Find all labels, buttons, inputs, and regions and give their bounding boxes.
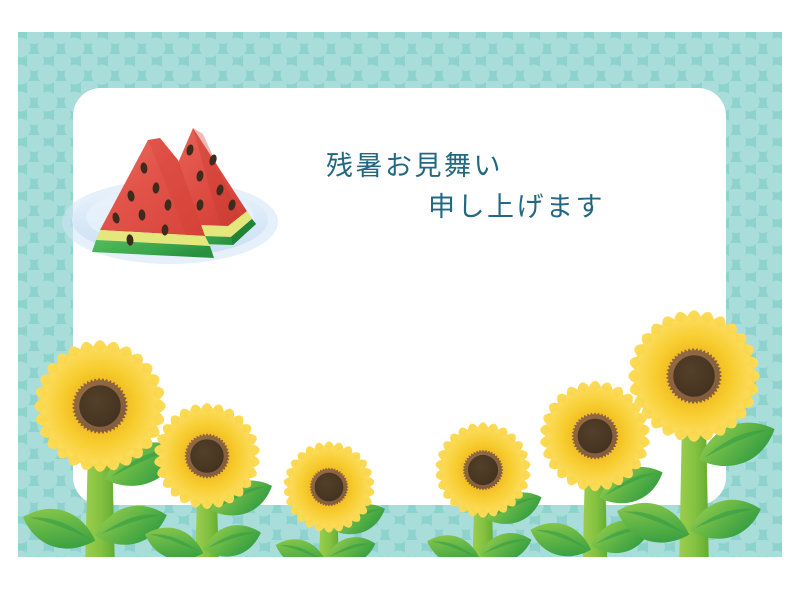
greeting-card-artwork <box>0 0 800 600</box>
sunflower-disc-center <box>190 439 224 473</box>
greeting-line-2: 申し上げます <box>428 194 605 221</box>
greeting-card-canvas: 残暑お見舞い 申し上げます <box>0 0 800 600</box>
greeting-line-1: 残暑お見舞い <box>326 153 503 180</box>
sunflower-disc-center <box>578 419 613 454</box>
sunflower-disc-center <box>468 455 498 485</box>
sunflower-disc-center <box>79 385 121 427</box>
sunflower-disc-center <box>673 355 715 397</box>
sunflower-disc-center <box>315 473 344 502</box>
